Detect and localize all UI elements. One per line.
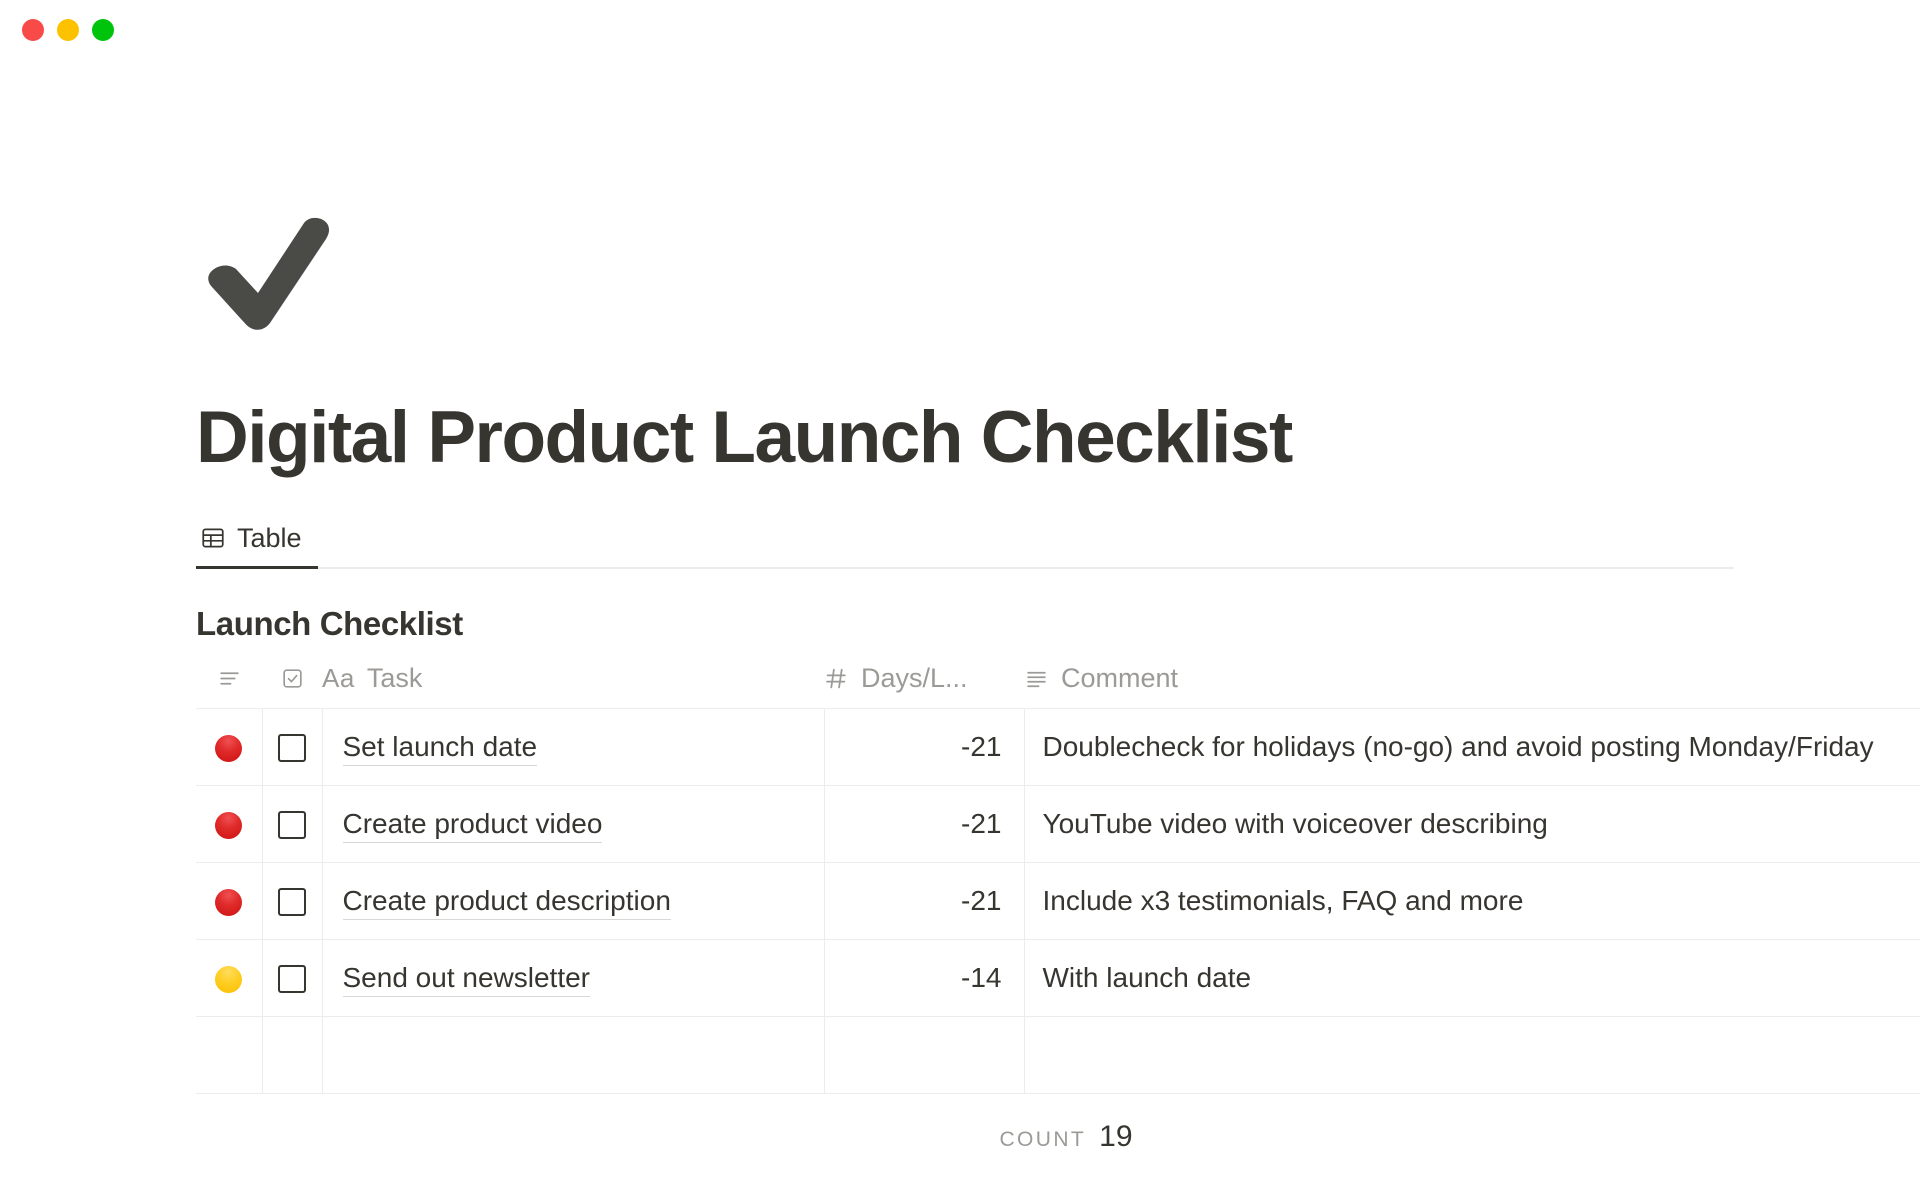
tab-table-label: Table [237,523,302,554]
column-header-task[interactable]: Aa Task [322,657,824,709]
task-checkbox[interactable] [278,888,306,916]
table-row[interactable]: Create product video -21 YouTube video w… [196,785,1920,862]
column-header-status[interactable] [196,657,262,709]
task-link[interactable]: Send out newsletter [343,962,591,997]
checkbox-icon [280,666,305,691]
row-days-cell [824,1016,1024,1093]
row-comment-cell[interactable]: Doublecheck for holidays (no-go) and avo… [1024,708,1920,785]
page-title: Digital Product Launch Checklist [196,400,1920,477]
table-icon [200,525,226,551]
table-row[interactable]: Set launch date -21 Doublecheck for holi… [196,708,1920,785]
database-title: Launch Checklist [196,605,1920,643]
status-dot-red [215,812,242,839]
column-header-days[interactable]: Days/L... [824,657,1024,709]
checkmark-icon[interactable] [196,205,346,355]
count-value: 19 [1099,1120,1132,1154]
window-maximize-button[interactable] [92,19,114,41]
row-comment-cell[interactable]: Include x3 testimonials, FAQ and more [1024,862,1920,939]
page-content: Digital Product Launch Checklist Table L… [0,205,1920,1154]
select-icon [217,666,242,691]
row-checkbox-cell[interactable] [262,708,322,785]
status-dot-yellow [215,966,242,993]
window-close-button[interactable] [22,19,44,41]
row-status-cell[interactable] [196,862,262,939]
column-header-checkbox[interactable] [262,657,322,709]
window-titlebar [0,0,1920,60]
row-status-cell [196,1016,262,1093]
status-dot-red [215,889,242,916]
row-days-cell[interactable]: -21 [824,862,1024,939]
table-row[interactable]: Create product description -21 Include x… [196,862,1920,939]
column-header-task-label: Task [367,663,423,694]
row-checkbox-cell[interactable] [262,862,322,939]
table-row[interactable]: Send out newsletter -14 With launch date [196,939,1920,1016]
row-days-cell[interactable]: -21 [824,708,1024,785]
row-checkbox-cell [262,1016,322,1093]
row-comment-cell [1024,1016,1920,1093]
window-minimize-button[interactable] [57,19,79,41]
table-header-row: Aa Task [196,657,1920,709]
number-icon [824,666,849,691]
row-days-cell[interactable]: -14 [824,939,1024,1016]
row-task-cell [322,1016,824,1093]
task-checkbox[interactable] [278,965,306,993]
view-tabbar: Table [196,517,1734,569]
table-row-clipped[interactable] [196,1016,1920,1093]
row-days-cell[interactable]: -21 [824,785,1024,862]
row-status-cell[interactable] [196,785,262,862]
task-link[interactable]: Create product video [343,808,603,843]
count-label: COUNT [999,1128,1086,1152]
task-checkbox[interactable] [278,811,306,839]
table-footer[interactable]: COUNT 19 [196,1120,1920,1154]
table-body: Set launch date -21 Doublecheck for holi… [196,708,1920,1093]
row-status-cell[interactable] [196,708,262,785]
task-checkbox[interactable] [278,734,306,762]
row-checkbox-cell[interactable] [262,939,322,1016]
row-task-cell[interactable]: Send out newsletter [322,939,824,1016]
task-link[interactable]: Create product description [343,885,671,920]
column-header-comment[interactable]: Comment [1024,657,1920,709]
title-type-icon: Aa [322,663,355,694]
row-comment-cell[interactable]: With launch date [1024,939,1920,1016]
row-status-cell[interactable] [196,939,262,1016]
row-task-cell[interactable]: Create product description [322,862,824,939]
task-link[interactable]: Set launch date [343,731,538,766]
text-icon [1024,666,1049,691]
row-task-cell[interactable]: Create product video [322,785,824,862]
row-comment-cell[interactable]: YouTube video with voiceover describing [1024,785,1920,862]
tab-table[interactable]: Table [196,517,318,569]
row-checkbox-cell[interactable] [262,785,322,862]
row-task-cell[interactable]: Set launch date [322,708,824,785]
column-header-comment-label: Comment [1061,663,1178,694]
checklist-table: Aa Task [196,657,1920,1094]
status-dot-red [215,735,242,762]
column-header-days-label: Days/L... [861,663,968,694]
table-scroll-container[interactable]: Aa Task [196,657,1920,1094]
